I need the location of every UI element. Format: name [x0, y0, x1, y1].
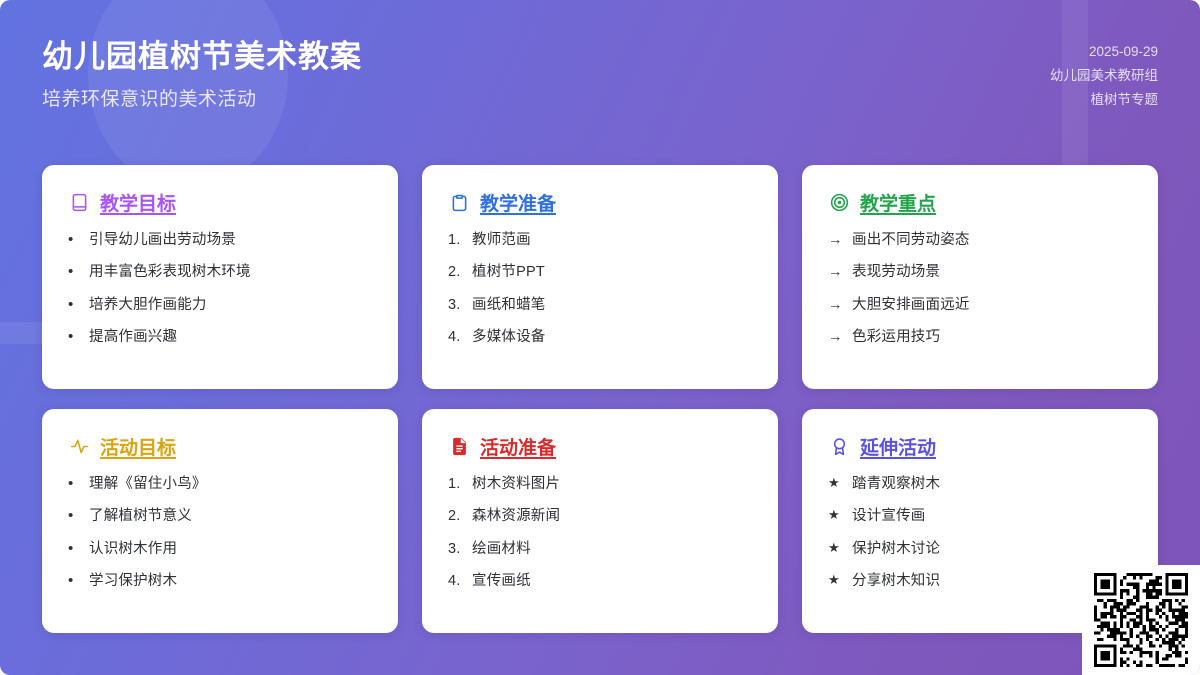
list-item-label: 设计宣传画	[852, 506, 926, 526]
list-item: ★保护树木讨论	[828, 539, 1132, 559]
list-item: •提高作画兴趣	[68, 327, 372, 347]
list-marker: 3.	[448, 295, 463, 315]
list-item: •引导幼儿画出劳动场景	[68, 230, 372, 250]
list-item-label: 绘画材料	[472, 539, 531, 559]
list-marker: •	[68, 539, 80, 559]
list-item: →表现劳动场景	[828, 262, 1132, 282]
list-marker: 1.	[448, 230, 463, 250]
list-item: ★设计宣传画	[828, 506, 1132, 526]
list-marker: 2.	[448, 506, 463, 526]
list-item-label: 画出不同劳动姿态	[852, 230, 970, 250]
list-marker: →	[828, 327, 843, 347]
card-item-list: 1.树木资料图片2.森林资源新闻3.绘画材料4.宣传画纸	[448, 474, 752, 591]
card-header: 教学重点	[828, 189, 1132, 216]
card-title-wrap: 教学目标	[100, 189, 176, 216]
list-item: 3.绘画材料	[448, 539, 752, 559]
list-item-label: 保护树木讨论	[852, 539, 940, 559]
file-text-icon	[448, 436, 470, 458]
list-item-label: 分享树木知识	[852, 571, 940, 591]
meta-topic: 植树节专题	[1050, 88, 1158, 112]
card-activity-objectives: 活动目标•理解《留住小鸟》•了解植树节意义•认识树木作用•学习保护树木	[42, 409, 398, 633]
activity-icon	[68, 436, 90, 458]
list-marker: •	[68, 262, 80, 282]
list-marker: 4.	[448, 571, 463, 591]
header-meta: 2025-09-29 幼儿园美术教研组 植树节专题	[1050, 40, 1158, 112]
list-item-label: 色彩运用技巧	[852, 327, 940, 347]
list-marker: 3.	[448, 539, 463, 559]
list-item: •理解《留住小鸟》	[68, 474, 372, 494]
card-item-list: 1.教师范画2.植树节PPT3.画纸和蜡笔4.多媒体设备	[448, 230, 752, 347]
target-icon	[828, 192, 850, 214]
meta-organization: 幼儿园美术教研组	[1050, 64, 1158, 88]
card-item-list: •引导幼儿画出劳动场景•用丰富色彩表现树木环境•培养大胆作画能力•提高作画兴趣	[68, 230, 372, 347]
list-marker: →	[828, 295, 843, 315]
list-marker: ★	[828, 474, 843, 492]
list-item: •用丰富色彩表现树木环境	[68, 262, 372, 282]
card-header: 活动目标	[68, 433, 372, 460]
list-item: →大胆安排画面远近	[828, 295, 1132, 315]
list-item: ★踏青观察树木	[828, 474, 1132, 494]
card-header: 延伸活动	[828, 433, 1132, 460]
book-icon	[68, 192, 90, 214]
card-title: 活动准备	[480, 438, 556, 461]
list-item: •了解植树节意义	[68, 506, 372, 526]
card-grid: 教学目标•引导幼儿画出劳动场景•用丰富色彩表现树木环境•培养大胆作画能力•提高作…	[42, 165, 1158, 633]
list-item-label: 教师范画	[472, 230, 531, 250]
list-item-label: 多媒体设备	[472, 327, 546, 347]
card-header: 教学准备	[448, 189, 752, 216]
card-title-wrap: 教学准备	[480, 189, 556, 216]
list-marker: ★	[828, 539, 843, 557]
card-title-wrap: 活动准备	[480, 433, 556, 460]
list-item: 2.植树节PPT	[448, 262, 752, 282]
card-title: 教学目标	[100, 194, 176, 217]
list-marker: 4.	[448, 327, 463, 347]
slide-header: 幼儿园植树节美术教案 培养环保意识的美术活动 2025-09-29 幼儿园美术教…	[0, 0, 1200, 148]
card-title-wrap: 教学重点	[860, 189, 936, 216]
list-item-label: 大胆安排画面远近	[852, 295, 970, 315]
list-marker: •	[68, 506, 80, 526]
list-item-label: 表现劳动场景	[852, 262, 940, 282]
list-item: 4.宣传画纸	[448, 571, 752, 591]
list-marker: •	[68, 571, 80, 591]
list-item-label: 植树节PPT	[472, 262, 545, 282]
list-item-label: 认识树木作用	[89, 539, 177, 559]
list-marker: •	[68, 230, 80, 250]
card-teaching-objectives: 教学目标•引导幼儿画出劳动场景•用丰富色彩表现树木环境•培养大胆作画能力•提高作…	[42, 165, 398, 389]
list-item-label: 理解《留住小鸟》	[89, 474, 207, 494]
card-title-wrap: 活动目标	[100, 433, 176, 460]
list-item-label: 画纸和蜡笔	[472, 295, 546, 315]
list-item: →色彩运用技巧	[828, 327, 1132, 347]
card-title: 延伸活动	[860, 438, 936, 461]
qr-code-container[interactable]	[1082, 565, 1200, 675]
list-item-label: 森林资源新闻	[472, 506, 560, 526]
card-header: 活动准备	[448, 433, 752, 460]
card-title: 教学重点	[860, 194, 936, 217]
card-item-list: →画出不同劳动姿态→表现劳动场景→大胆安排画面远近→色彩运用技巧	[828, 230, 1132, 347]
card-title: 教学准备	[480, 194, 556, 217]
list-item-label: 培养大胆作画能力	[89, 295, 207, 315]
list-item-label: 提高作画兴趣	[89, 327, 177, 347]
card-activity-preparation: 活动准备1.树木资料图片2.森林资源新闻3.绘画材料4.宣传画纸	[422, 409, 778, 633]
list-item-label: 树木资料图片	[472, 474, 560, 494]
list-item: •认识树木作用	[68, 539, 372, 559]
page-subtitle: 培养环保意识的美术活动	[42, 84, 362, 111]
list-marker: ★	[828, 506, 843, 524]
page-title: 幼儿园植树节美术教案	[42, 38, 362, 76]
list-item-label: 引导幼儿画出劳动场景	[89, 230, 236, 250]
card-item-list: •理解《留住小鸟》•了解植树节意义•认识树木作用•学习保护树木	[68, 474, 372, 591]
card-title: 活动目标	[100, 438, 176, 461]
list-marker: →	[828, 262, 843, 282]
list-marker: 1.	[448, 474, 463, 494]
card-title-wrap: 延伸活动	[860, 433, 936, 460]
meta-date: 2025-09-29	[1050, 40, 1158, 64]
list-item-label: 宣传画纸	[472, 571, 531, 591]
list-marker: ★	[828, 571, 843, 589]
list-marker: •	[68, 295, 80, 315]
award-icon	[828, 436, 850, 458]
list-item-label: 学习保护树木	[89, 571, 177, 591]
card-teaching-preparation: 教学准备1.教师范画2.植树节PPT3.画纸和蜡笔4.多媒体设备	[422, 165, 778, 389]
qr-code[interactable]	[1090, 573, 1192, 667]
clipboard-icon	[448, 192, 470, 214]
list-item: 3.画纸和蜡笔	[448, 295, 752, 315]
list-item: 4.多媒体设备	[448, 327, 752, 347]
list-marker: •	[68, 327, 80, 347]
list-marker: •	[68, 474, 80, 494]
list-item: 2.森林资源新闻	[448, 506, 752, 526]
list-item: •培养大胆作画能力	[68, 295, 372, 315]
list-item-label: 踏青观察树木	[852, 474, 940, 494]
list-item-label: 了解植树节意义	[89, 506, 192, 526]
list-marker: →	[828, 230, 843, 250]
list-item: 1.树木资料图片	[448, 474, 752, 494]
list-item: •学习保护树木	[68, 571, 372, 591]
list-item: →画出不同劳动姿态	[828, 230, 1132, 250]
slide-root: 幼儿园植树节美术教案 培养环保意识的美术活动 2025-09-29 幼儿园美术教…	[0, 0, 1200, 675]
card-teaching-focus: 教学重点→画出不同劳动姿态→表现劳动场景→大胆安排画面远近→色彩运用技巧	[802, 165, 1158, 389]
card-header: 教学目标	[68, 189, 372, 216]
list-marker: 2.	[448, 262, 463, 282]
list-item: 1.教师范画	[448, 230, 752, 250]
list-item-label: 用丰富色彩表现树木环境	[89, 262, 251, 282]
header-title-block: 幼儿园植树节美术教案 培养环保意识的美术活动	[42, 38, 362, 111]
